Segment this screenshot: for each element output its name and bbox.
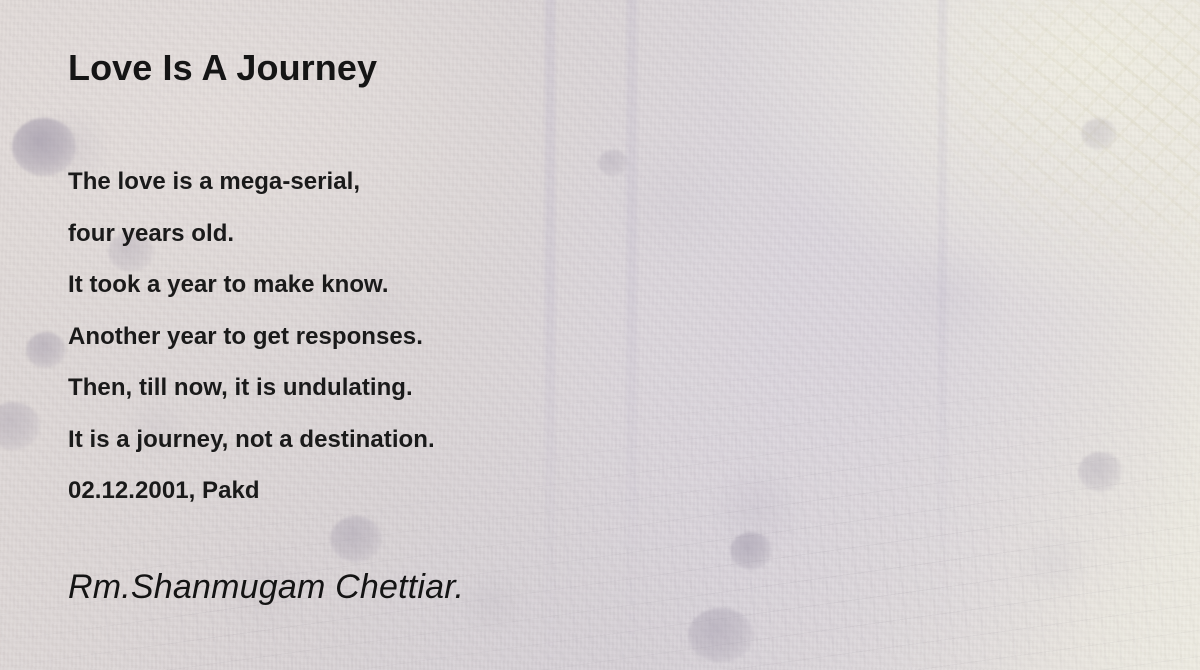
poem-date-line: 02.12.2001, Pakd	[68, 465, 435, 517]
poem-line: It took a year to make know.	[68, 259, 435, 311]
poem-line: The love is a mega-serial,	[68, 156, 435, 208]
poem-card: Love Is A Journey The love is a mega-ser…	[0, 0, 1200, 670]
poem-line: Another year to get responses.	[68, 311, 435, 363]
ink-blot-icon	[26, 332, 66, 368]
poem-line: four years old.	[68, 208, 435, 260]
poem-title: Love Is A Journey	[68, 50, 377, 86]
ink-blot-icon	[0, 402, 40, 450]
poem-author-signature: Rm.Shanmugam Chettiar.	[68, 570, 464, 604]
poem-text-block: Love Is A Journey The love is a mega-ser…	[68, 0, 1200, 670]
poem-line: Then, till now, it is undulating.	[68, 362, 435, 414]
poem-line: It is a journey, not a destination.	[68, 414, 435, 466]
poem-body: The love is a mega-serial, four years ol…	[68, 156, 435, 517]
ink-blot-icon	[12, 118, 76, 176]
